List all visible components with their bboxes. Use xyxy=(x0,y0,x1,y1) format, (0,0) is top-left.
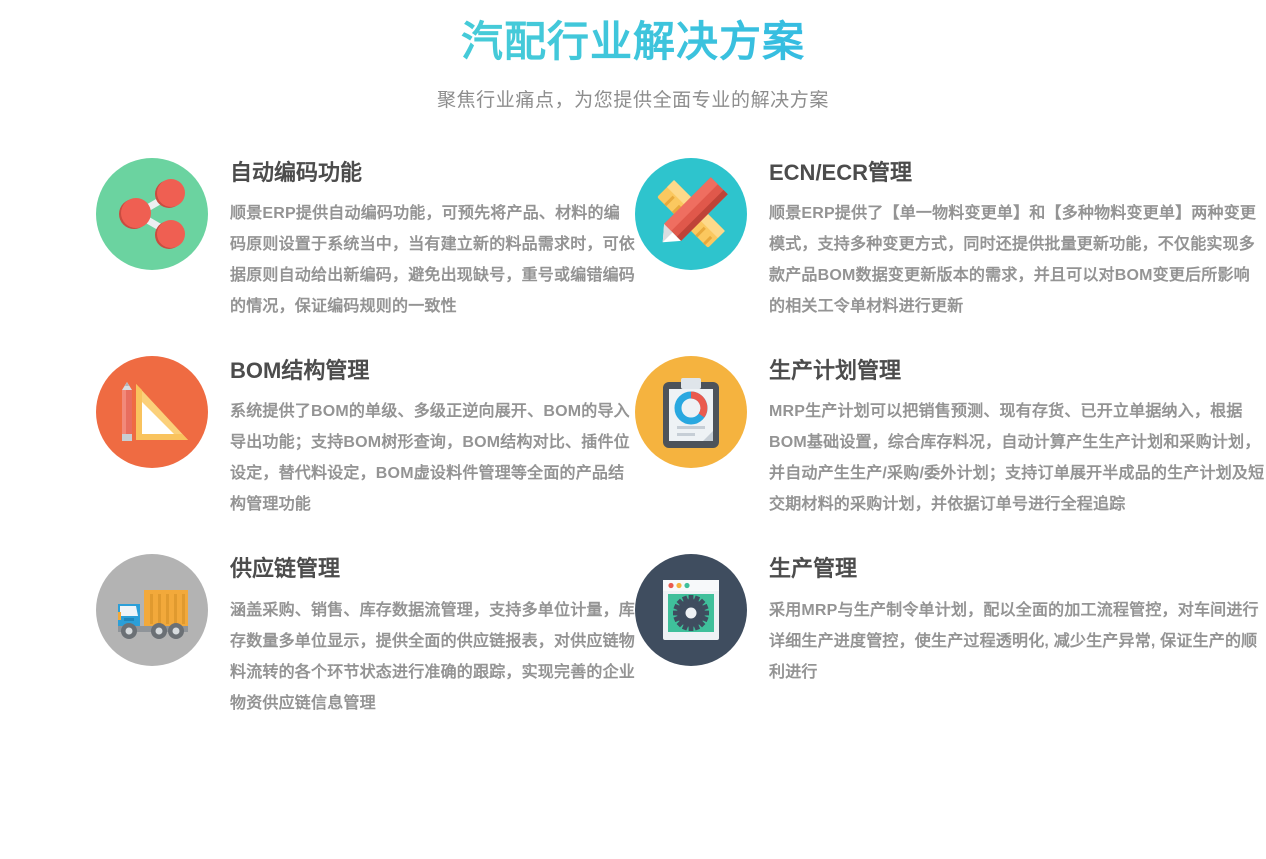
page-subtitle: 聚焦行业痛点，为您提供全面专业的解决方案 xyxy=(0,85,1266,112)
share-nodes-icon xyxy=(96,158,208,270)
feature-row: 供应链管理 涵盖采购、销售、库存数据流管理，支持多单位计量，库存数量多单位显示，… xyxy=(0,554,1266,718)
pencil-ruler-icon xyxy=(635,158,747,270)
feature-text: 生产管理 采用MRP与生产制令单计划，配以全面的加工流程管控，对车间进行详细生产… xyxy=(769,554,1266,687)
feature-card-production-mgmt: 生产管理 采用MRP与生产制令单计划，配以全面的加工流程管控，对车间进行详细生产… xyxy=(635,554,1266,718)
feature-text: 生产计划管理 MRP生产计划可以把销售预测、现有存货、已开立单据纳入，根据BOM… xyxy=(769,356,1266,520)
feature-card-auto-coding: 自动编码功能 顺景ERP提供自动编码功能，可预先将产品、材料的编码原则设置于系统… xyxy=(0,158,635,322)
feature-description: 涵盖采购、销售、库存数据流管理，支持多单位计量，库存数量多单位显示，提供全面的供… xyxy=(230,595,635,719)
feature-description: 系统提供了BOM的单级、多级正逆向展开、BOM的导入导出功能；支持BOM树形查询… xyxy=(230,396,635,520)
feature-description: 顺景ERP提供自动编码功能，可预先将产品、材料的编码原则设置于系统当中，当有建立… xyxy=(230,198,635,322)
feature-title: 供应链管理 xyxy=(230,556,635,582)
feature-row: 自动编码功能 顺景ERP提供自动编码功能，可预先将产品、材料的编码原则设置于系统… xyxy=(0,158,1266,322)
feature-card-production-plan: 生产计划管理 MRP生产计划可以把销售预测、现有存货、已开立单据纳入，根据BOM… xyxy=(635,356,1266,520)
feature-title: 生产管理 xyxy=(769,556,1266,582)
feature-card-supply-chain: 供应链管理 涵盖采购、销售、库存数据流管理，支持多单位计量，库存数量多单位显示，… xyxy=(0,554,635,718)
feature-card-ecn-ecr: ECN/ECR管理 顺景ERP提供了【单一物料变更单】和【多种物料变更单】两种变… xyxy=(635,158,1266,322)
feature-title: 生产计划管理 xyxy=(769,358,1266,384)
feature-title: 自动编码功能 xyxy=(230,160,635,186)
feature-description: 顺景ERP提供了【单一物料变更单】和【多种物料变更单】两种变更模式，支持多种变更… xyxy=(769,198,1266,322)
delivery-truck-icon xyxy=(96,554,208,666)
feature-description: MRP生产计划可以把销售预测、现有存货、已开立单据纳入，根据BOM基础设置，综合… xyxy=(769,396,1266,520)
feature-text: BOM结构管理 系统提供了BOM的单级、多级正逆向展开、BOM的导入导出功能；支… xyxy=(230,356,635,520)
solutions-page: 汽配行业解决方案 聚焦行业痛点，为您提供全面专业的解决方案 xyxy=(0,0,1266,859)
feature-text: ECN/ECR管理 顺景ERP提供了【单一物料变更单】和【多种物料变更单】两种变… xyxy=(769,158,1266,322)
clipboard-chart-icon xyxy=(635,356,747,468)
page-title: 汽配行业解决方案 xyxy=(0,14,1266,71)
triangle-ruler-pencil-icon xyxy=(96,356,208,468)
feature-text: 供应链管理 涵盖采购、销售、库存数据流管理，支持多单位计量，库存数量多单位显示，… xyxy=(230,554,635,718)
feature-title: BOM结构管理 xyxy=(230,358,635,384)
feature-grid: 自动编码功能 顺景ERP提供自动编码功能，可预先将产品、材料的编码原则设置于系统… xyxy=(0,158,1266,719)
feature-row: BOM结构管理 系统提供了BOM的单级、多级正逆向展开、BOM的导入导出功能；支… xyxy=(0,356,1266,520)
page-header: 汽配行业解决方案 聚焦行业痛点，为您提供全面专业的解决方案 xyxy=(0,0,1266,112)
feature-title: ECN/ECR管理 xyxy=(769,160,1266,186)
browser-gear-icon xyxy=(635,554,747,666)
feature-card-bom-structure: BOM结构管理 系统提供了BOM的单级、多级正逆向展开、BOM的导入导出功能；支… xyxy=(0,356,635,520)
feature-text: 自动编码功能 顺景ERP提供自动编码功能，可预先将产品、材料的编码原则设置于系统… xyxy=(230,158,635,322)
feature-description: 采用MRP与生产制令单计划，配以全面的加工流程管控，对车间进行详细生产进度管控，… xyxy=(769,595,1266,688)
